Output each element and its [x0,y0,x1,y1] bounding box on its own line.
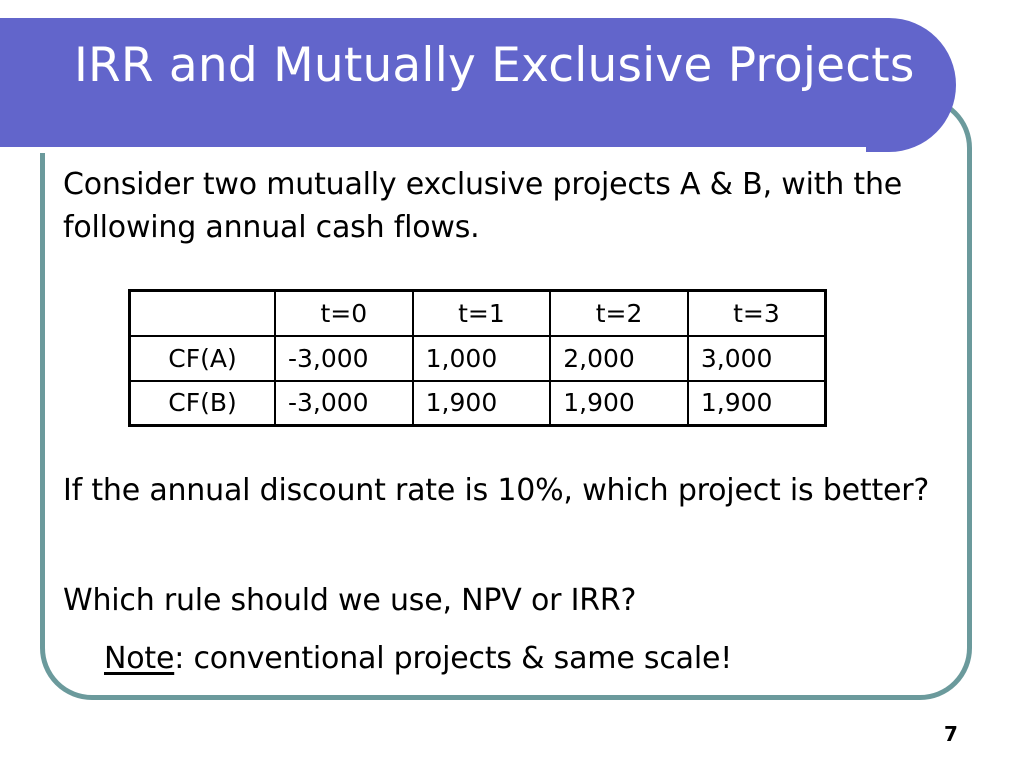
table-body: CF(A) -3,000 1,000 2,000 3,000 CF(B) -3,… [130,336,826,426]
cell-cf-a-t2: 2,000 [550,336,688,381]
cell-cf-a-t1: 1,000 [413,336,551,381]
note-label: Note [104,641,174,676]
note-line: Note: conventional projects & same scale… [104,637,984,680]
table-header-t1: t=1 [413,291,551,336]
rule-choice-question: Which rule should we use, NPV or IRR? [63,579,953,622]
table-header: t=0 t=1 t=2 t=3 [130,291,826,336]
page-number: 7 [944,722,958,746]
table-header-t2: t=2 [550,291,688,336]
discount-rate-question: If the annual discount rate is 10%, whic… [63,469,953,512]
table-row: CF(B) -3,000 1,900 1,900 1,900 [130,381,826,426]
row-label-cf-a: CF(A) [130,336,275,381]
slide-canvas: IRR and Mutually Exclusive Projects Cons… [0,0,1024,768]
intro-paragraph: Consider two mutually exclusive projects… [63,163,963,249]
cashflow-table: t=0 t=1 t=2 t=3 CF(A) -3,000 1,000 2,000… [128,289,827,427]
table-header-t3: t=3 [688,291,826,336]
table-header-t0: t=0 [275,291,413,336]
cell-cf-b-t1: 1,900 [413,381,551,426]
table-corner-cell [130,291,275,336]
row-label-cf-b: CF(B) [130,381,275,426]
cell-cf-b-t2: 1,900 [550,381,688,426]
cell-cf-a-t0: -3,000 [275,336,413,381]
note-text: : conventional projects & same scale! [174,641,732,676]
table-header-row: t=0 t=1 t=2 t=3 [130,291,826,336]
cell-cf-a-t3: 3,000 [688,336,826,381]
cell-cf-b-t3: 1,900 [688,381,826,426]
cell-cf-b-t0: -3,000 [275,381,413,426]
table-row: CF(A) -3,000 1,000 2,000 3,000 [130,336,826,381]
page-title: IRR and Mutually Exclusive Projects [74,33,914,101]
title-underline-rule [0,147,866,153]
